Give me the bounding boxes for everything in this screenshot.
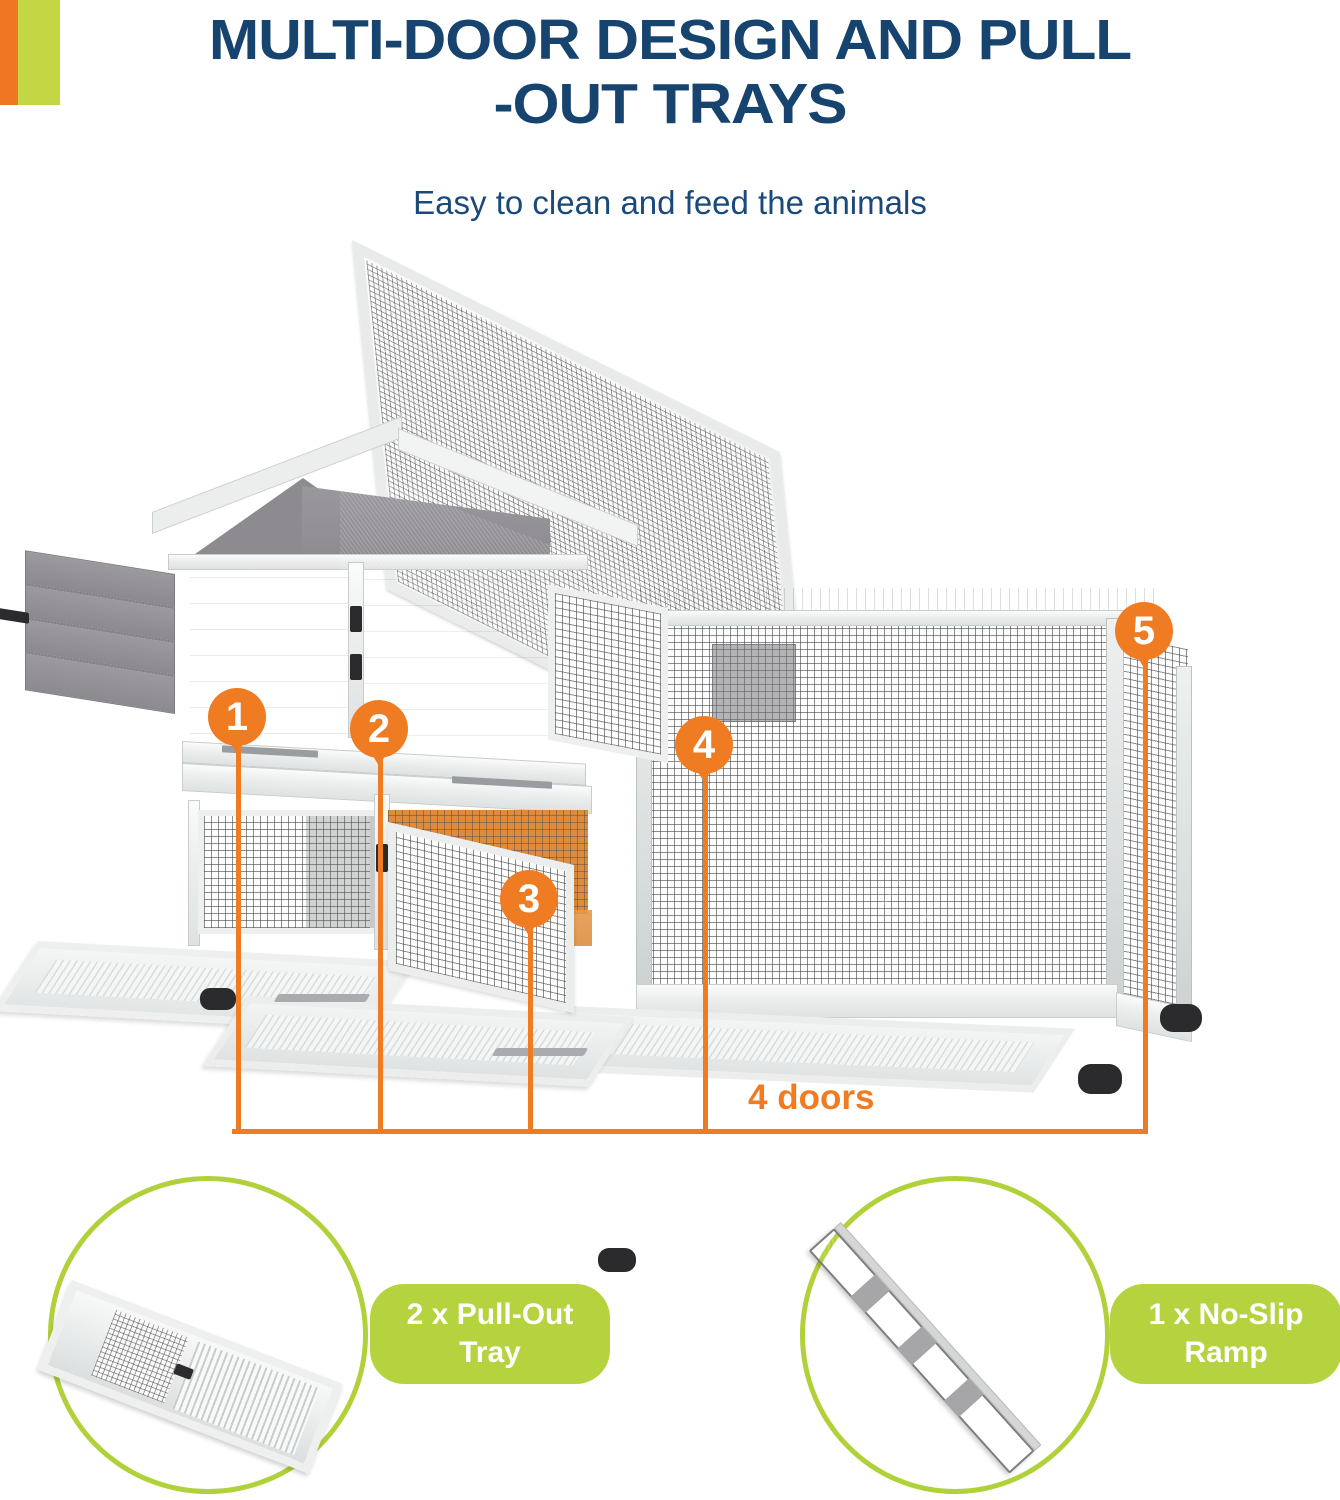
callout-badge-5[interactable]: 5 — [1115, 602, 1173, 660]
outdoor-run — [600, 588, 1200, 1028]
side-flap-door-open[interactable] — [25, 550, 175, 714]
page-subtitle: Easy to clean and feed the animals — [0, 183, 1340, 223]
header: MULTI-DOOR DESIGN AND PULL -OUT TRAYS Ea… — [0, 0, 1340, 236]
callout-badge-1[interactable]: 1 — [208, 688, 266, 746]
feature-card-pull-out-tray: 2 x Pull-Out Tray — [30, 1170, 640, 1500]
callout-badge-2[interactable]: 2 — [350, 700, 408, 758]
upper-door-latch-top[interactable] — [350, 606, 362, 632]
run-side-mesh-door-panel — [548, 585, 668, 763]
doors-count-label: 4 doors — [748, 1078, 874, 1118]
caster-back-right — [1160, 1004, 1202, 1032]
lower-left-inner-shadow — [306, 816, 374, 928]
tray-handle-front-left[interactable] — [274, 994, 371, 1002]
leader-line-1 — [236, 716, 241, 1134]
run-side-mesh-door-open[interactable] — [548, 585, 668, 763]
callout-baseline — [232, 1129, 1148, 1134]
leader-line-4 — [703, 744, 708, 1134]
run-roof-front-edge — [634, 610, 1164, 626]
product-illustration: 1 2 3 4 5 4 doors — [0, 236, 1340, 1166]
callout-badge-4[interactable]: 4 — [675, 716, 733, 774]
run-post-far-right — [1176, 666, 1192, 1018]
upper-door-latch-bottom[interactable] — [350, 654, 362, 680]
callout-badge-3[interactable]: 3 — [500, 870, 558, 928]
run-floor-tray-liner — [572, 1022, 1034, 1072]
caster-front-mid — [598, 1248, 636, 1272]
feature-label-pull-out-tray: 2 x Pull-Out Tray — [370, 1284, 610, 1384]
run-post-right — [1106, 618, 1124, 1010]
feature-circle-ramp — [800, 1176, 1110, 1494]
feature-card-no-slip-ramp: 1 x No-Slip Ramp — [760, 1170, 1340, 1500]
caster-front-right — [1078, 1064, 1122, 1094]
tray-liner-right — [245, 1015, 594, 1065]
tray-handle-front-right[interactable] — [492, 1048, 589, 1056]
page-title: MULTI-DOOR DESIGN AND PULL -OUT TRAYS — [0, 8, 1340, 136]
leader-line-5 — [1143, 630, 1148, 1134]
leader-line-2 — [378, 728, 383, 1134]
run-inner-window — [712, 644, 796, 722]
caster-front-left — [200, 988, 236, 1010]
feature-label-no-slip-ramp: 1 x No-Slip Ramp — [1110, 1284, 1340, 1384]
